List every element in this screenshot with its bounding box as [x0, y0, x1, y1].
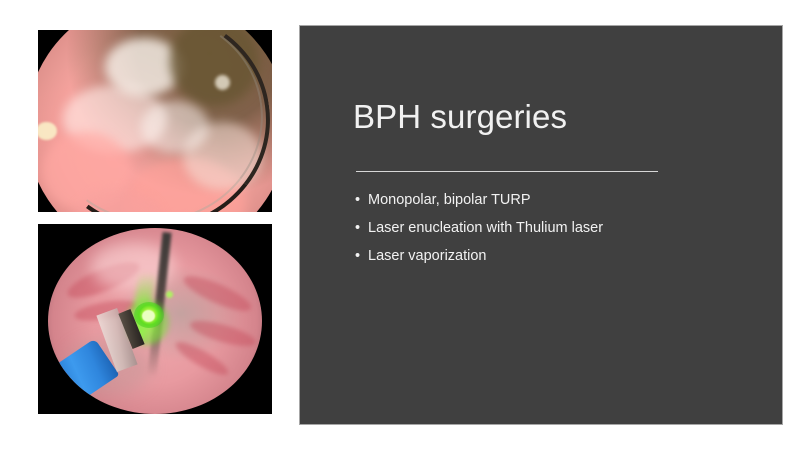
laser-tip-hotspot [142, 310, 155, 322]
endoscope-circular-field [48, 228, 262, 414]
title-divider [356, 171, 658, 172]
slide-content-panel: BPH surgeries • Monopolar, bipolar TURP … [299, 25, 783, 425]
list-item: • Monopolar, bipolar TURP [353, 186, 753, 214]
bullet-marker-icon: • [355, 186, 360, 214]
list-item-label: Monopolar, bipolar TURP [368, 192, 531, 208]
endoscope-circular-field [38, 30, 272, 212]
bullet-marker-icon: • [355, 242, 360, 270]
bullet-list: • Monopolar, bipolar TURP • Laser enucle… [353, 186, 753, 270]
list-item-label: Laser vaporization [368, 248, 487, 264]
tissue-vein [188, 316, 258, 351]
tissue-vein [172, 337, 231, 380]
list-item-label: Laser enucleation with Thulium laser [368, 220, 603, 236]
turp-resectoscope-photo [38, 30, 272, 212]
laser-enucleation-photo [38, 224, 272, 414]
list-item: • Laser vaporization [353, 242, 753, 270]
page-title: BPH surgeries [353, 98, 567, 136]
list-item: • Laser enucleation with Thulium laser [353, 214, 753, 242]
tissue-vein [180, 270, 254, 317]
bullet-marker-icon: • [355, 214, 360, 242]
laser-spark [166, 291, 173, 298]
presentation-slide: BPH surgeries • Monopolar, bipolar TURP … [0, 0, 800, 450]
